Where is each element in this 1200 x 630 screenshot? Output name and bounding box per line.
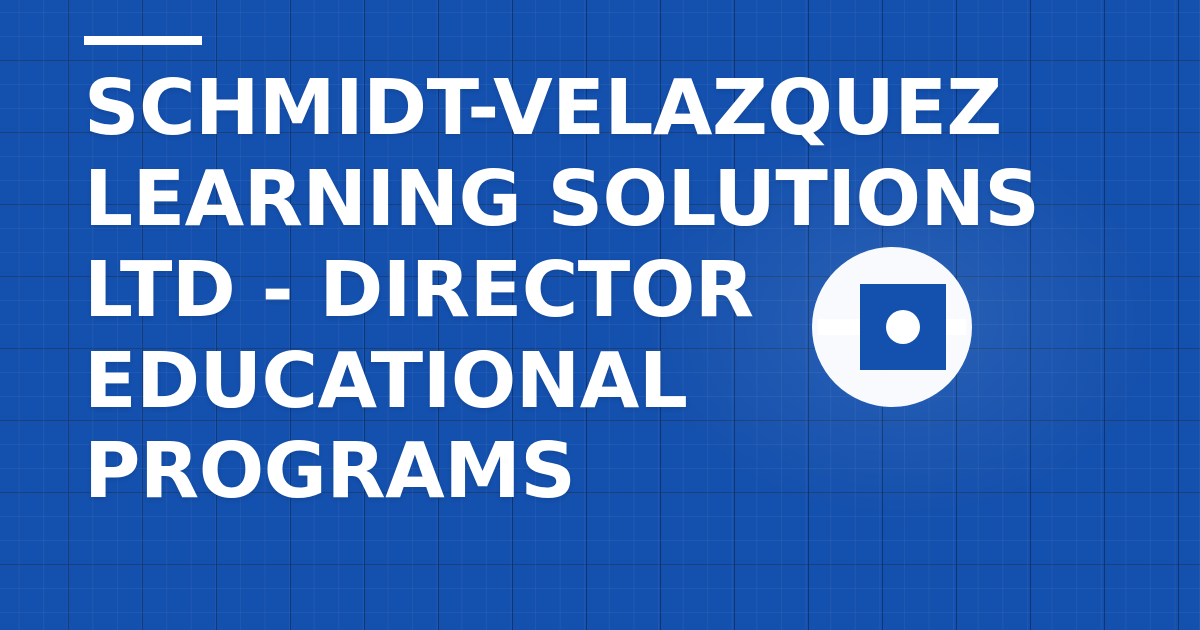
logo-dot-shape: [886, 310, 920, 344]
circle-square-dot-logo-icon: [812, 247, 972, 407]
accent-bar: [84, 36, 202, 45]
banner-canvas: SCHMIDT-VELAZQUEZ LEARNING SOLUTIONS LTD…: [0, 0, 1200, 630]
